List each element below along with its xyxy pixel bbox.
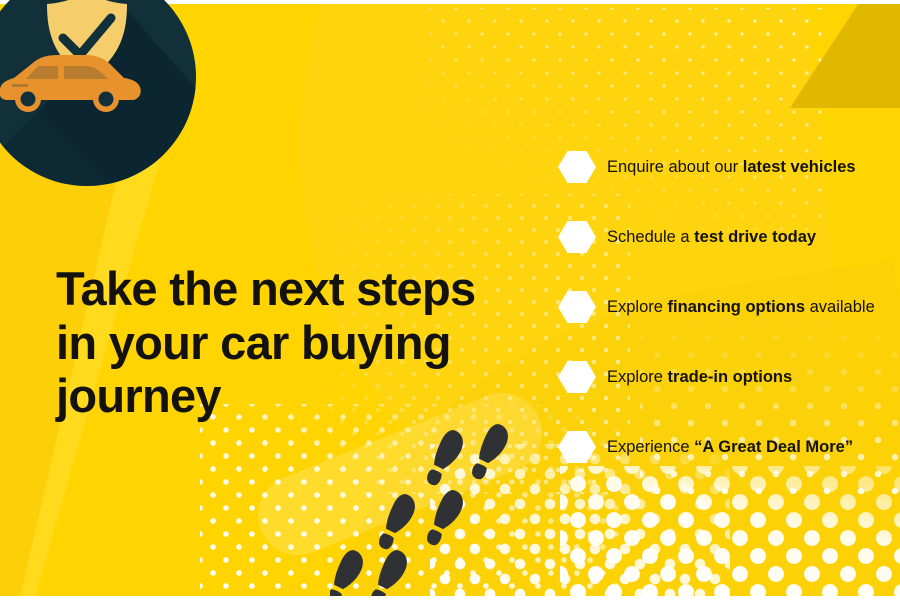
headline-line-2: in your car buying — [56, 316, 526, 370]
list-item[interactable]: Schedule a test drive today — [558, 202, 900, 272]
list-item-emphasis: financing options — [668, 298, 806, 316]
list-item-label: Explore trade-in options — [607, 368, 792, 387]
hexagon-bullet-icon — [558, 360, 596, 394]
list-item[interactable]: Explore trade-in options — [558, 342, 900, 412]
list-item-label: Explore financing options available — [607, 298, 875, 317]
list-item[interactable]: Experience “A Great Deal More” — [558, 412, 900, 482]
page-title: Take the next steps in your car buying j… — [56, 262, 526, 423]
promo-banner: Take the next steps in your car buying j… — [0, 0, 900, 600]
headline-line-3: journey — [56, 369, 526, 423]
list-item-lead: Experience — [607, 438, 694, 456]
list-item-lead: Schedule a — [607, 228, 694, 246]
halftone-dots-bottom-large — [560, 466, 900, 596]
list-item-emphasis: “A Great Deal More” — [694, 438, 853, 456]
car-shield-check-icon — [0, 0, 196, 186]
list-item-label: Enquire about our latest vehicles — [607, 158, 856, 177]
list-item-label: Experience “A Great Deal More” — [607, 438, 853, 457]
list-item-lead: Enquire about our — [607, 158, 743, 176]
list-item-emphasis: latest vehicles — [743, 158, 856, 176]
list-item-lead: Explore — [607, 368, 668, 386]
list-item-emphasis: test drive today — [694, 228, 816, 246]
benefits-list: Enquire about our latest vehicles Schedu… — [558, 132, 900, 482]
list-item-emphasis: trade-in options — [668, 368, 793, 386]
hexagon-bullet-icon — [558, 150, 596, 184]
list-item[interactable]: Enquire about our latest vehicles — [558, 132, 900, 202]
hexagon-bullet-icon — [558, 220, 596, 254]
list-item-label: Schedule a test drive today — [607, 228, 816, 247]
list-item-lead: Explore — [607, 298, 668, 316]
hexagon-bullet-icon — [558, 430, 596, 464]
list-item[interactable]: Explore financing options available — [558, 272, 900, 342]
hexagon-bullet-icon — [558, 290, 596, 324]
footprints-icon — [330, 419, 560, 596]
headline-line-1: Take the next steps — [56, 262, 526, 316]
list-item-tail: available — [805, 298, 875, 316]
corner-triangle-accent — [790, 4, 900, 108]
